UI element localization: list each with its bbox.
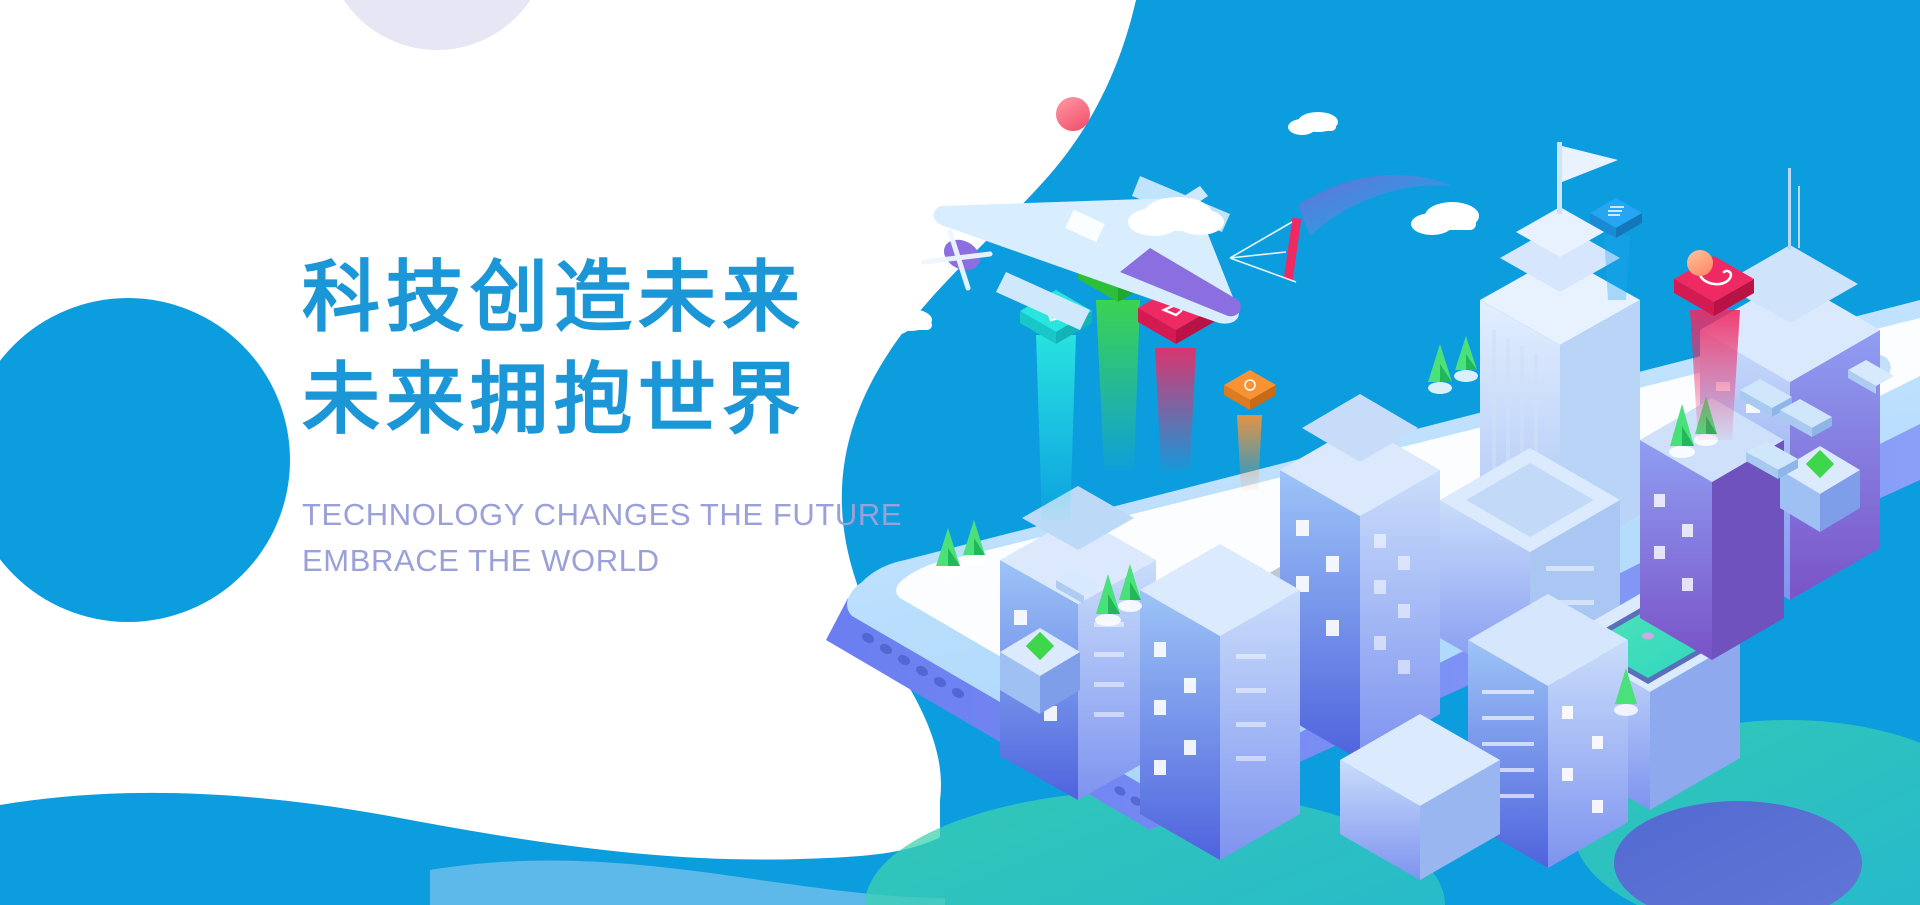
subtitle-block: TECHNOLOGY CHANGES THE FUTURE EMBRACE TH… [302, 492, 922, 584]
tree [1428, 344, 1452, 394]
subtitle-line-1: TECHNOLOGY CHANGES THE FUTURE [302, 492, 922, 538]
headline-line-1: 科技创造未来 [302, 248, 922, 346]
banner-text-block: 科技创造未来 未来拥抱世界 TECHNOLOGY CHANGES THE FUT… [302, 248, 922, 584]
subtitle-line-2: EMBRACE THE WORLD [302, 538, 922, 584]
cloud [1411, 202, 1479, 235]
pink-sphere [1056, 97, 1090, 131]
hero-banner: 科技创造未来 未来拥抱世界 TECHNOLOGY CHANGES THE FUT… [0, 0, 1920, 905]
cloud [1288, 112, 1338, 135]
building-front-left [1140, 544, 1300, 860]
tree [1454, 336, 1478, 382]
isometric-city-illustration [0, 0, 1920, 905]
orange-sphere [1687, 250, 1713, 276]
headline-line-2: 未来拥抱世界 [302, 350, 922, 448]
buildings-front [1140, 544, 1300, 860]
flag-icon [1562, 146, 1618, 182]
